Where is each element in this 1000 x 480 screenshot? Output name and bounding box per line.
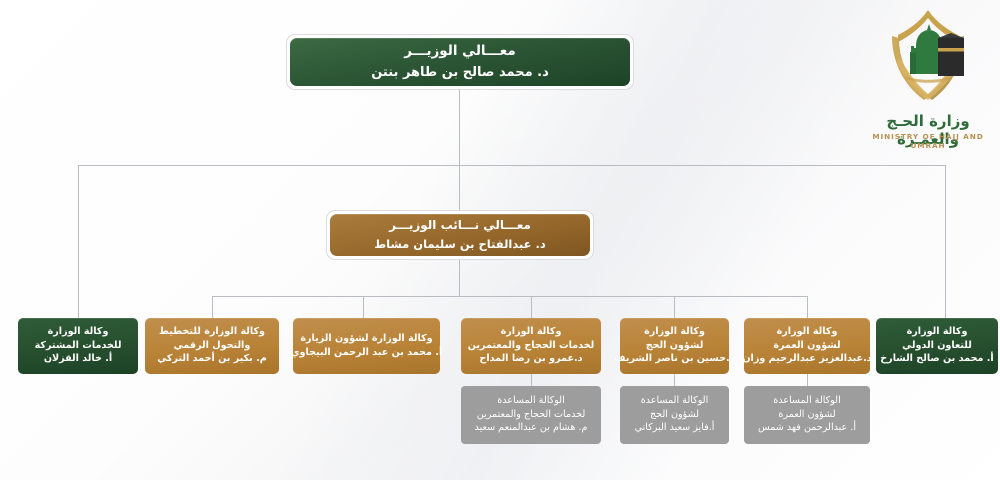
node-assistant-hajj-affairs[interactable]: الوكالة المساعدة لشؤون الحج أ.فايز سعيد … [620, 386, 729, 444]
node-agency-visit-affairs[interactable]: وكالة الوزارة لشؤون الزيارة أ. محمد بن ع… [293, 318, 440, 374]
node-minister[interactable]: معـــالي الوزيـــر د. محمد صالح بن طاهر … [286, 34, 634, 90]
agency-line-1: وكالة الوزارة [48, 326, 109, 339]
connector-deputy-to-umrah [807, 296, 808, 318]
connector-minister-to-deputy [459, 165, 460, 210]
agency-line-1: وكالة الوزارة [907, 326, 968, 339]
minister-title: معـــالي الوزيـــر [404, 43, 516, 61]
connector-minister-to-shared-services [78, 165, 79, 318]
agency-line-1: وكالة الوزارة [777, 326, 838, 339]
node-agency-hajj-affairs[interactable]: وكالة الوزارة لشؤون الحج د.حسين بن ناصر … [620, 318, 729, 374]
assistant-line-1: الوكالة المساعدة [773, 395, 841, 408]
connector-umrah-to-assistant [807, 374, 808, 386]
assistant-line-2: لشؤون الحج [650, 409, 699, 422]
assistant-line-2: لخدمات الحجاج والمعتمرين [477, 409, 586, 422]
agency-line-2: لشؤون الحج [646, 340, 704, 353]
node-agency-international-cooperation[interactable]: وكالة الوزارة للتعاون الدولي أ. محمد بن … [876, 318, 998, 374]
agency-line-1: وكالة الوزارة [644, 326, 705, 339]
agency-line-1: وكالة الوزارة لشؤون الزيارة [300, 333, 432, 346]
connector-deputy-to-pilgrims [531, 296, 532, 318]
ministry-logo: وزارة الحـج والعمـرة MINISTRY OF HAJJ AN… [858, 8, 998, 148]
connector-deputy-to-visit [363, 296, 364, 318]
assistant-person: أ.فايز سعيد البركاتي [635, 422, 715, 435]
agency-line-2: لخدمات الحجاج والمعتمرين [468, 340, 594, 353]
connector-deputy-to-hajj [674, 296, 675, 318]
deputy-minister-title: معـــالي نـــائب الوزيـــر [389, 218, 531, 234]
node-agency-pilgrims-services[interactable]: وكالة الوزارة لخدمات الحجاج والمعتمرين د… [461, 318, 601, 374]
agency-person: أ. محمد بن صالح الشارخ [880, 353, 993, 366]
node-assistant-umrah-affairs[interactable]: الوكالة المساعدة لشؤون العمرة أ. عبدالرح… [744, 386, 870, 444]
connector-pilgrims-to-assistant [531, 374, 532, 386]
agency-line-1: وكالة الوزارة للتخطيط [159, 326, 265, 339]
node-agency-umrah-affairs[interactable]: وكالة الوزارة لشؤون العمرة د.عبدالعزيز ع… [744, 318, 870, 374]
agency-person: أ. خالد القزلان [44, 353, 112, 366]
agency-line-2: والتحول الرقمي [174, 340, 251, 353]
agency-line-1: وكالة الوزارة [501, 326, 562, 339]
kaaba-icon [938, 33, 964, 76]
agency-person: م. بكير بن أحمد التركي [157, 353, 267, 366]
assistant-person: م. هشام بن عبدالمنعم سعيد [475, 422, 588, 435]
assistant-line-1: الوكالة المساعدة [641, 395, 709, 408]
connector-minister-to-international [945, 165, 946, 318]
ministry-logo-mark [872, 8, 984, 112]
node-deputy-minister[interactable]: معـــالي نـــائب الوزيـــر د. عبدالفتاح … [326, 210, 594, 260]
connector-minister-bus [78, 165, 946, 166]
org-chart-canvas: معـــالي الوزيـــر د. محمد صالح بن طاهر … [0, 0, 1000, 480]
connector-deputy-stem [459, 260, 460, 296]
connector-deputy-bus [212, 296, 807, 297]
agency-line-2: للخدمات المشتركة [35, 340, 122, 353]
agency-line-2: لشؤون العمرة [773, 340, 840, 353]
assistant-person: أ. عبدالرحمن فهد شمس [758, 422, 856, 435]
node-agency-shared-services[interactable]: وكالة الوزارة للخدمات المشتركة أ. خالد ا… [18, 318, 138, 374]
node-assistant-pilgrims-services[interactable]: الوكالة المساعدة لخدمات الحجاج والمعتمري… [461, 386, 601, 444]
connector-hajj-to-assistant [674, 374, 675, 386]
agency-line-2: للتعاون الدولي [902, 340, 972, 353]
minister-person: د. محمد صالح بن طاهر بنتن [371, 64, 549, 81]
ministry-name-english: MINISTRY OF HAJJ AND UMRAH [858, 132, 998, 150]
assistant-line-1: الوكالة المساعدة [497, 395, 565, 408]
assistant-line-2: لشؤون العمرة [778, 409, 835, 422]
node-agency-planning-digital[interactable]: وكالة الوزارة للتخطيط والتحول الرقمي م. … [145, 318, 279, 374]
connector-deputy-to-planning [212, 296, 213, 318]
agency-person: أ. محمد بن عبد الرحمن البيجاوي [291, 347, 443, 360]
connector-minister-stem [459, 90, 460, 165]
agency-person: د.حسين بن ناصر الشريف [614, 353, 734, 366]
deputy-minister-person: د. عبدالفتاح بن سليمان مشاط [374, 237, 546, 252]
agency-person: د.عمرو بن رضا المداح [479, 353, 582, 366]
agency-person: د.عبدالعزيز عبدالرحيم وزان [742, 353, 871, 366]
